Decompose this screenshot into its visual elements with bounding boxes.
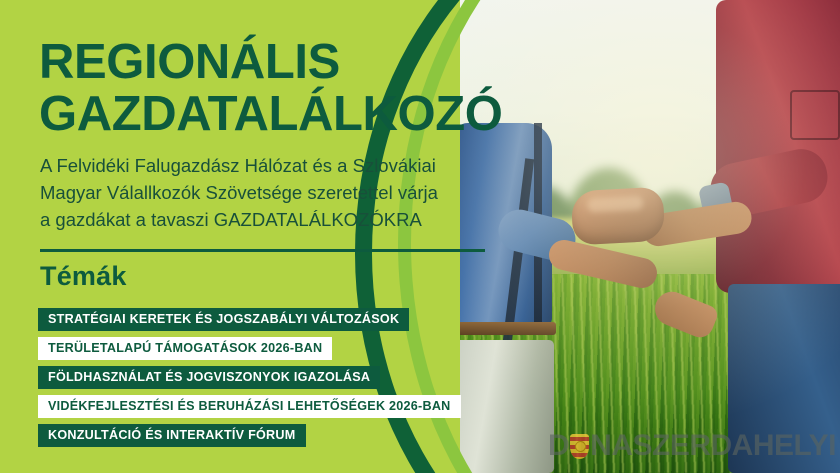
topic-item-5: KONZULTÁCIÓ ÉS INTERAKTÍV FÓRUM bbox=[38, 424, 306, 447]
topic-item-4: VIDÉKFEJLESZTÉSI ÉS BERUHÁZÁSI LEHETŐSÉG… bbox=[38, 395, 461, 418]
topics-list: STRATÉGIAI KERETEK ÉS JOGSZABÁLYI VÁLTOZ… bbox=[0, 308, 540, 453]
farmer-right-maroon-shirt bbox=[688, 0, 840, 473]
title-line-1: REGIONÁLIS bbox=[39, 35, 340, 89]
poster-canvas: REGIONÁLIS GAZDATALÁLKOZÓ A Felvidéki Fa… bbox=[0, 0, 840, 473]
subtitle-block: A Felvidéki Falugazdász Hálózat és a Szl… bbox=[40, 152, 510, 233]
subtitle-line-2: Magyar Válallkozók Szövetsége szeretette… bbox=[40, 179, 510, 206]
topic-row: STRATÉGIAI KERETEK ÉS JOGSZABÁLYI VÁLTOZ… bbox=[0, 308, 540, 337]
topic-row: VIDÉKFEJLESZTÉSI ÉS BERUHÁZÁSI LEHETŐSÉG… bbox=[0, 395, 540, 424]
horizontal-divider bbox=[40, 249, 485, 252]
topics-heading: Témák bbox=[40, 261, 127, 292]
farmer-right-torso bbox=[716, 0, 840, 293]
farmer-right-pocket bbox=[790, 90, 840, 140]
handshake-hands bbox=[571, 187, 666, 246]
topic-item-3: FÖLDHASZNÁLAT ÉS JOGVISZONYOK IGAZOLÁSA bbox=[38, 366, 380, 389]
subtitle-line-3: a gazdákat a tavaszi GAZDATALÁLKOZÓKRA bbox=[40, 206, 510, 233]
topic-row: FÖLDHASZNÁLAT ÉS JOGVISZONYOK IGAZOLÁSA bbox=[0, 366, 540, 395]
subtitle-line-1: A Felvidéki Falugazdász Hálózat és a Szl… bbox=[40, 152, 510, 179]
topic-item-1: STRATÉGIAI KERETEK ÉS JOGSZABÁLYI VÁLTOZ… bbox=[38, 308, 409, 331]
topic-item-2: TERÜLETALAPÚ TÁMOGATÁSOK 2026-BAN bbox=[38, 337, 332, 360]
title-line-2: GAZDATALÁLKOZÓ bbox=[39, 88, 519, 140]
topic-row: TERÜLETALAPÚ TÁMOGATÁSOK 2026-BAN bbox=[0, 337, 540, 366]
farmer-right-jeans bbox=[728, 284, 840, 473]
topic-row: KONZULTÁCIÓ ÉS INTERAKTÍV FÓRUM bbox=[0, 424, 540, 453]
text-column: REGIONÁLIS GAZDATALÁLKOZÓ A Felvidéki Fa… bbox=[0, 0, 540, 473]
page-title: REGIONÁLIS GAZDATALÁLKOZÓ bbox=[39, 36, 519, 140]
